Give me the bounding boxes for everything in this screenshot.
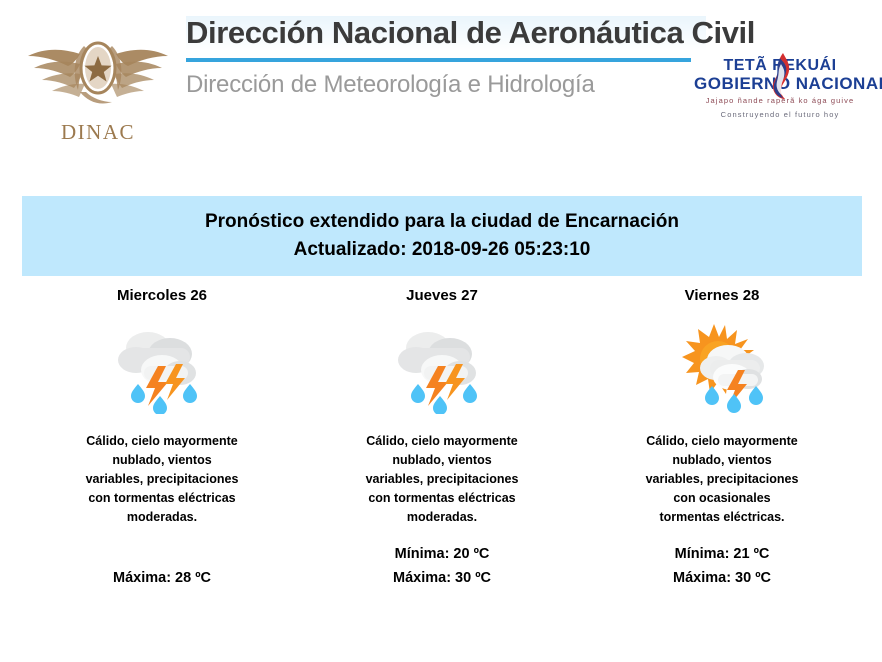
banner-updated: Actualizado: 2018-09-26 05:23:10	[294, 236, 591, 264]
forecast-day-column: Miercoles 26 Cálido, cielo mayor	[22, 284, 302, 624]
day-min-temp: Mínima: 20 ºC	[302, 543, 582, 566]
day-max-temp: Máxima: 30 ºC	[302, 567, 582, 590]
day-temperatures: Mínima: 20 ºC Máxima: 30 ºC	[302, 543, 582, 590]
day-name: Jueves 27	[406, 284, 478, 308]
page-header: DINAC Dirección Nacional de Aeronáutica …	[0, 0, 882, 172]
forecast-day-column: Jueves 27 Cálido, cielo mayormen	[302, 284, 582, 624]
gov-tagline-spanish: Construyendo el futuro hoy	[694, 110, 866, 121]
header-divider	[186, 58, 691, 62]
dinac-logo-text: DINAC	[18, 120, 178, 145]
day-min-temp: Mínima: 21 ºC	[582, 543, 862, 566]
thunderstorm-rain-icon	[387, 316, 497, 416]
day-temperatures: Mínima: 21 ºC Máxima: 30 ºC	[582, 543, 862, 590]
flame-icon	[768, 52, 794, 100]
thunderstorm-rain-icon	[107, 316, 217, 416]
day-description: Cálido, cielo mayormente nublado, viento…	[362, 432, 522, 527]
header-titles: Dirección Nacional de Aeronáutica Civil …	[186, 16, 706, 99]
sun-thunderstorm-icon	[667, 316, 777, 416]
forecast-columns: Miercoles 26 Cálido, cielo mayor	[22, 284, 862, 624]
day-temperatures: Máxima: 28 ºC	[22, 544, 302, 590]
banner-title: Pronóstico extendido para la ciudad de E…	[205, 208, 679, 236]
day-name: Miercoles 26	[117, 284, 207, 308]
day-description: Cálido, cielo mayormente nublado, viento…	[642, 432, 802, 527]
forecast-title-banner: Pronóstico extendido para la ciudad de E…	[22, 196, 862, 276]
day-max-temp: Máxima: 28 ºC	[22, 567, 302, 590]
organization-subtitle: Dirección de Meteorología e Hidrología	[186, 71, 706, 99]
day-description: Cálido, cielo mayormente nublado, viento…	[82, 432, 242, 527]
dinac-logo: DINAC	[18, 22, 178, 147]
day-name: Viernes 28	[685, 284, 760, 308]
organization-title: Dirección Nacional de Aeronáutica Civil	[186, 16, 706, 51]
day-max-temp: Máxima: 30 ºC	[582, 567, 862, 590]
government-logo: TETÃ REKUÁI GOBIERNO NACIONAL Jajapo ñan…	[694, 58, 866, 138]
forecast-day-column: Viernes 28	[582, 284, 862, 624]
